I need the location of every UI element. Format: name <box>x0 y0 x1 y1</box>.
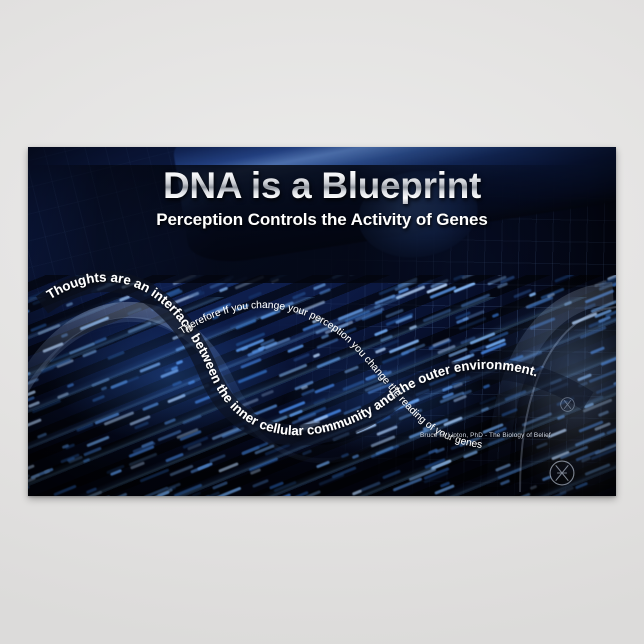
poster-image[interactable]: DNA is a Blueprint Perception Controls t… <box>28 147 616 496</box>
quote-ribbon: Thoughts are an interface between the in… <box>28 147 616 496</box>
attribution-text: Bruce H. Lipton, PhD - The Biology of Be… <box>420 432 551 439</box>
helix-logo-icon <box>548 459 576 487</box>
helix-logo-small-icon <box>559 396 576 413</box>
quote-main-text: Thoughts are an interface between the in… <box>44 269 540 438</box>
